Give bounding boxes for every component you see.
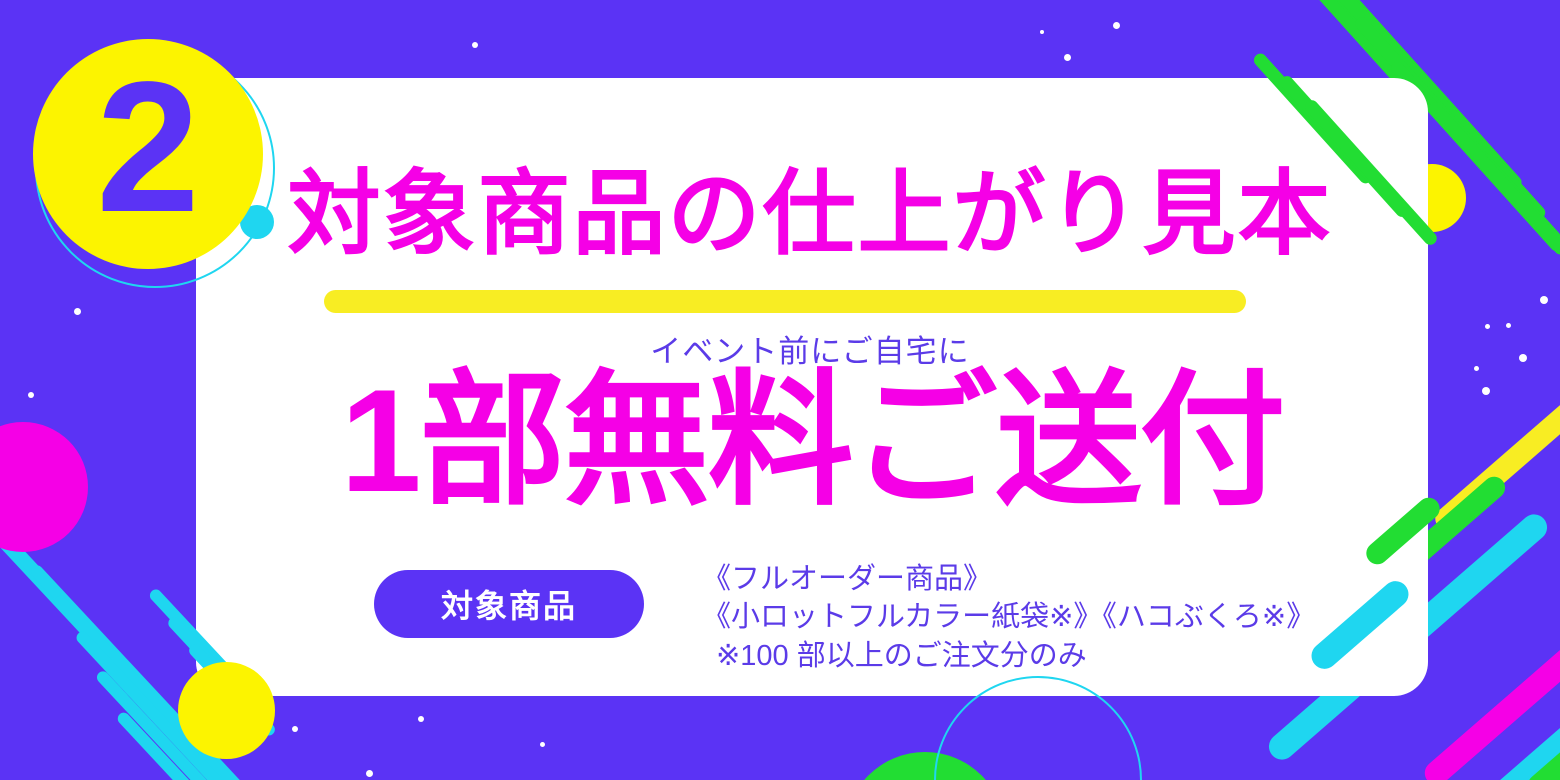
offer-details-row: 対象商品 《フルオーダー商品》 《小ロットフルカラー紙袋※》《ハコぶくろ※》 ※… <box>374 556 1424 675</box>
target-products-list: 《フルオーダー商品》 《小ロットフルカラー紙袋※》《ハコぶくろ※》 ※100 部… <box>702 556 1315 675</box>
confetti-dot <box>245 696 249 700</box>
confetti-dot <box>1040 30 1044 34</box>
headline-text: 1部無料ご送付 <box>196 368 1428 514</box>
confetti-dot <box>28 392 34 398</box>
green-hatch-stripe <box>1426 100 1560 257</box>
cyan-hatch-stripe <box>115 710 328 780</box>
step-number-label: 2 <box>96 55 199 241</box>
cyan-accent-stroke <box>1463 717 1560 780</box>
confetti-dot <box>1064 54 1071 61</box>
detail-line: 《フルオーダー商品》 <box>702 560 1315 598</box>
green-accent-circle-bottom <box>845 752 1005 780</box>
confetti-dot <box>540 742 545 747</box>
confetti-dot <box>1519 354 1527 362</box>
cyan-hatch-stripe <box>0 510 153 701</box>
yellow-accent-stroke <box>1431 368 1560 534</box>
target-products-label: 対象商品 <box>441 581 577 627</box>
confetti-dot <box>366 770 373 777</box>
detail-line: ※100 部以上のご注文分のみ <box>702 637 1315 675</box>
confetti-dot <box>1474 366 1479 371</box>
green-accent-stroke <box>1524 705 1560 780</box>
page-title: 対象商品の仕上がり見本 <box>280 168 1340 261</box>
promo-banner: 2 対象商品の仕上がり見本 イベント前にご自宅に 1部無料ご送付 対象商品 《フ… <box>0 0 1560 780</box>
cyan-hatch-stripe <box>2 536 209 756</box>
magenta-accent-circle <box>0 422 88 552</box>
confetti-dot <box>292 726 298 732</box>
confetti-dot <box>1485 324 1490 329</box>
magenta-accent-stroke <box>1420 634 1560 780</box>
card-content: 対象商品の仕上がり見本 イベント前にご自宅に 1部無料ご送付 対象商品 《フルオ… <box>196 78 1428 696</box>
confetti-dot <box>1540 296 1548 304</box>
confetti-dot <box>1113 22 1120 29</box>
title-underline-bar <box>324 290 1246 313</box>
target-products-badge: 対象商品 <box>374 570 644 638</box>
confetti-dot <box>1482 387 1490 395</box>
confetti-dot <box>1506 323 1511 328</box>
detail-line: 《小ロットフルカラー紙袋※》《ハコぶくろ※》 <box>702 598 1315 636</box>
confetti-dot <box>418 716 424 722</box>
confetti-dot <box>74 308 81 315</box>
confetti-dot <box>472 42 478 48</box>
